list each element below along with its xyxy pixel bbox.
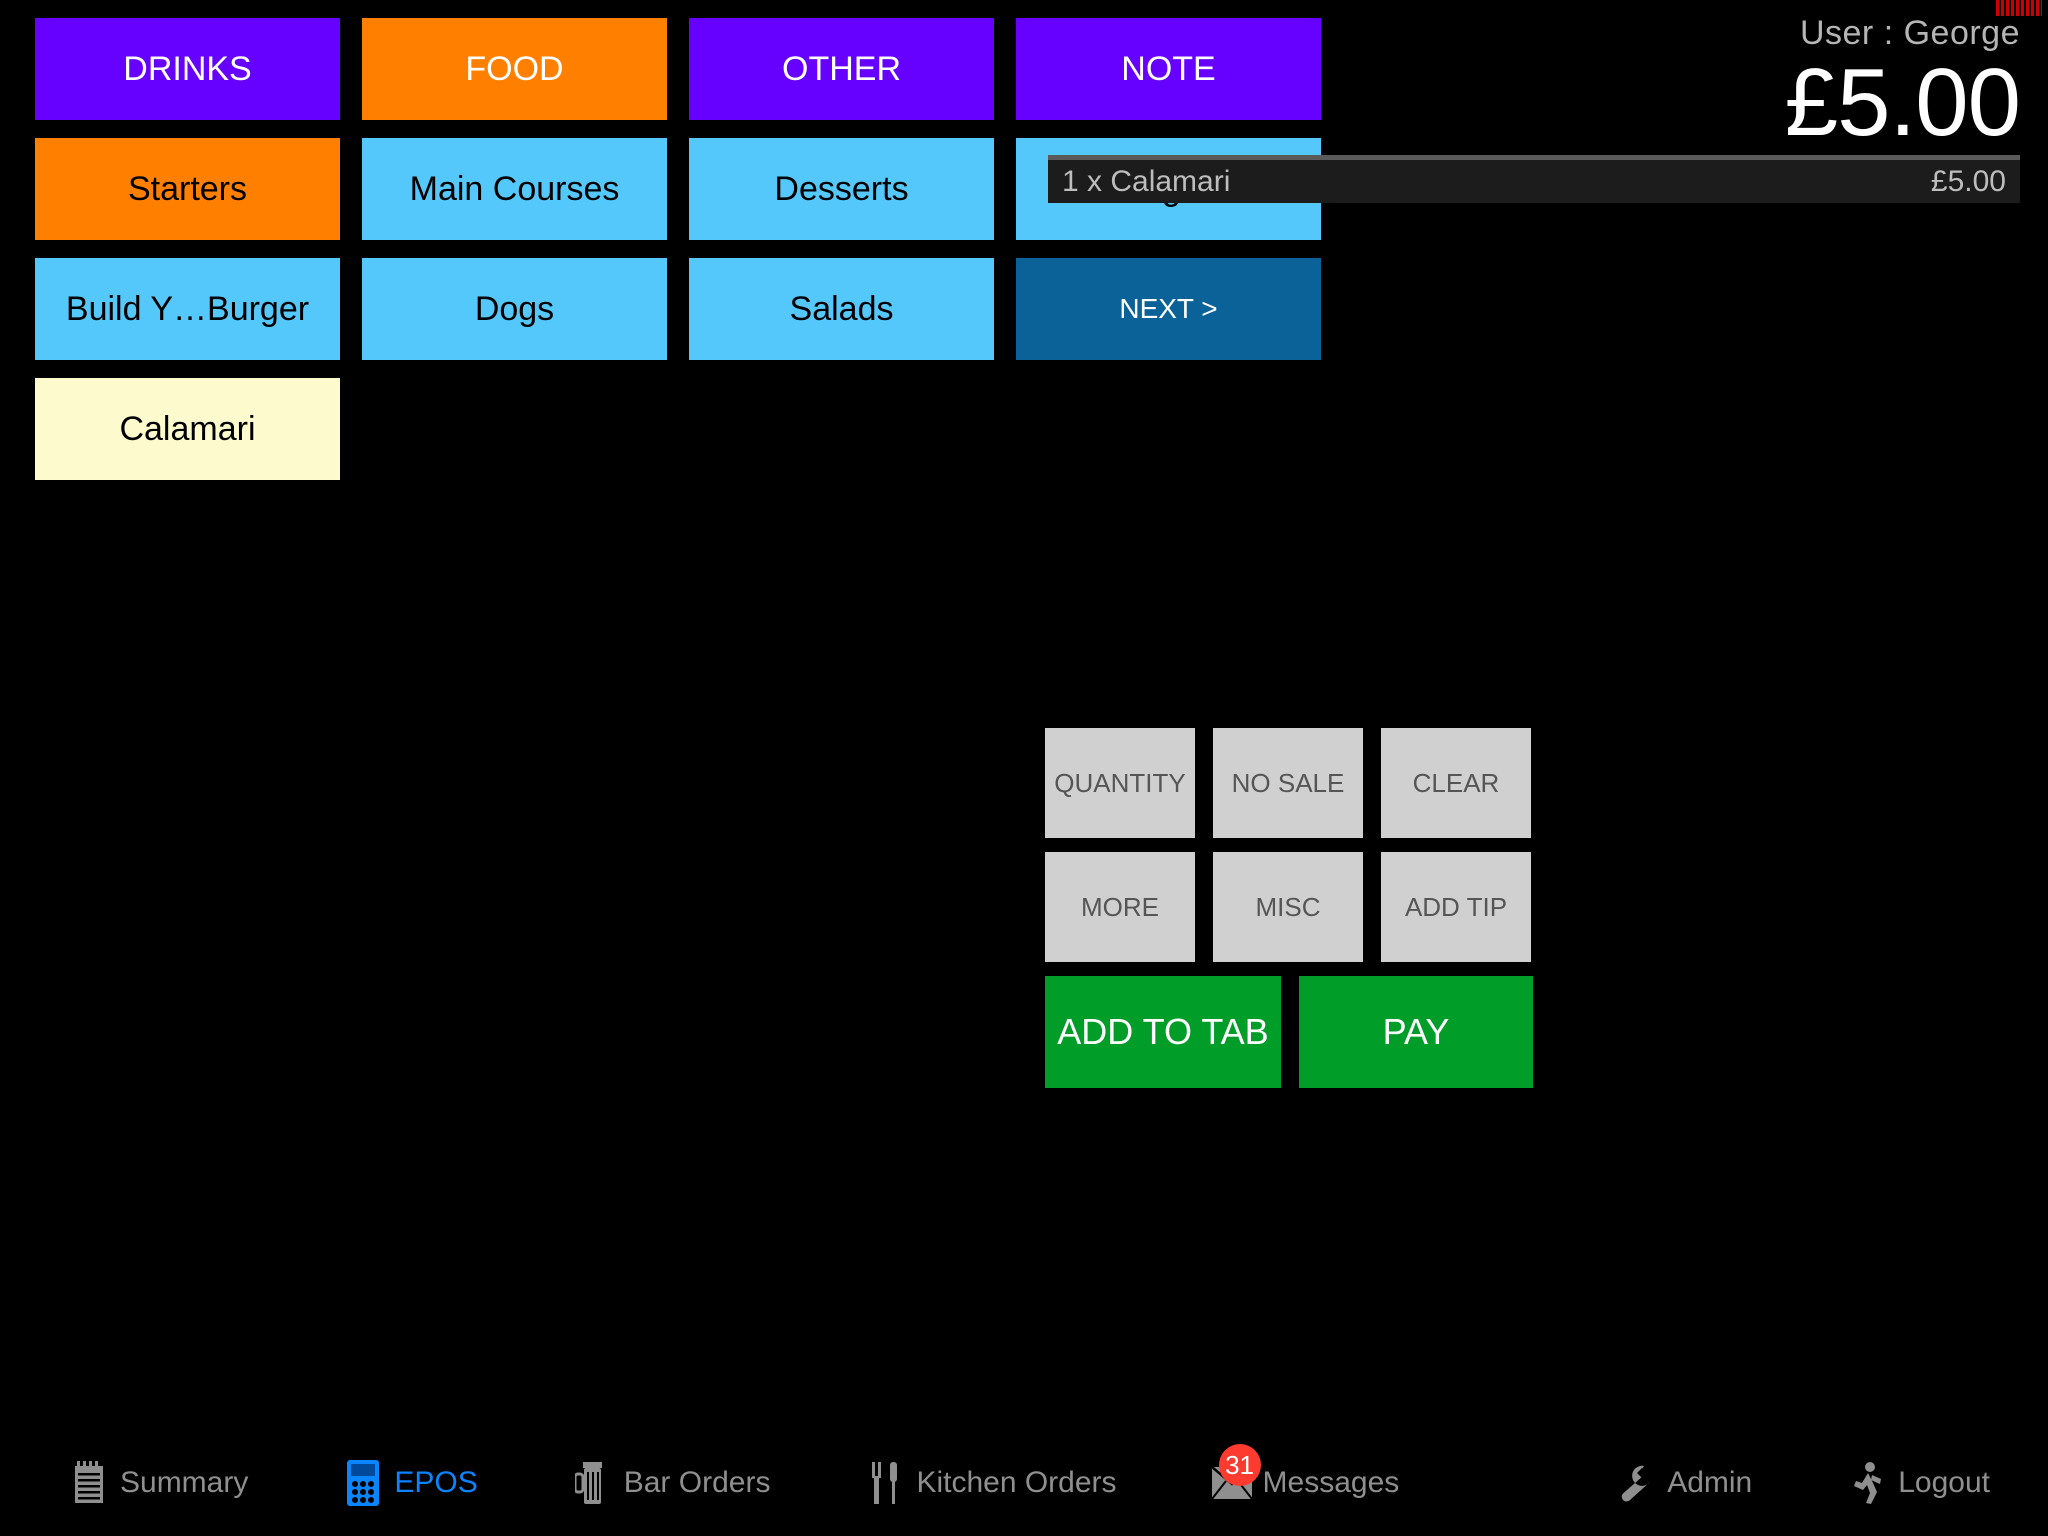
misc-button[interactable]: MISC: [1213, 852, 1363, 962]
grid-button-label: Build Y…Burger: [66, 292, 309, 326]
grid-button-label: Main Courses: [410, 172, 620, 206]
tab-bar-right-group: AdminLogout: [1597, 1430, 2008, 1536]
action-button-label: CLEAR: [1413, 768, 1500, 799]
quantity-button[interactable]: QUANTITY: [1045, 728, 1195, 838]
wrench-icon: [1615, 1458, 1657, 1508]
clear-button[interactable]: CLEAR: [1381, 728, 1531, 838]
action-button-label: MISC: [1256, 892, 1321, 923]
category-food[interactable]: FOOD: [362, 18, 667, 120]
order-line-description: 1 x Calamari: [1062, 165, 1931, 199]
no-sale-button[interactable]: NO SALE: [1213, 728, 1363, 838]
tab-label: Admin: [1667, 1466, 1752, 1500]
tab-bar-left-group: SummaryEPOSBar OrdersKitchen OrdersMessa…: [50, 1430, 1417, 1536]
running-person-icon: [1846, 1458, 1888, 1508]
grid-button-label: Dogs: [475, 292, 554, 326]
cutlery-icon: [864, 1458, 906, 1508]
tab-epos[interactable]: EPOS: [324, 1430, 495, 1536]
subcategory-dogs[interactable]: Dogs: [362, 258, 667, 360]
order-line-item[interactable]: 1 x Calamari£5.00: [1048, 155, 2020, 203]
subcategory-desserts[interactable]: Desserts: [689, 138, 994, 240]
grid-button-label: Calamari: [119, 412, 255, 446]
tab-label: Logout: [1898, 1466, 1990, 1500]
action-button-label: NO SALE: [1232, 768, 1345, 799]
add-to-tab-button[interactable]: ADD TO TAB: [1045, 976, 1281, 1088]
tab-label: Bar Orders: [624, 1466, 771, 1500]
action-button-label: QUANTITY: [1054, 768, 1185, 799]
tab-admin[interactable]: Admin: [1597, 1430, 1770, 1536]
grid-button-label: DRINKS: [123, 52, 251, 86]
order-line-amount: £5.00: [1931, 165, 2006, 199]
order-panel: User : George £5.00 1 x Calamari£5.00: [1040, 0, 2048, 1400]
grid-button-label: OTHER: [782, 52, 901, 86]
action-button-label: ADD TIP: [1405, 892, 1507, 923]
notification-badge: 31: [1219, 1444, 1261, 1486]
subcategory-salads[interactable]: Salads: [689, 258, 994, 360]
bottom-tab-bar: SummaryEPOSBar OrdersKitchen OrdersMessa…: [0, 1430, 2048, 1536]
action-keypad: ADD TIPMISCMORECLEARNO SALEQUANTITY ADD …: [1045, 728, 2045, 1098]
subcategory-main-courses[interactable]: Main Courses: [362, 138, 667, 240]
category-drinks[interactable]: DRINKS: [35, 18, 340, 120]
product-grid: DRINKSFOODOTHERNOTEStartersMain CoursesD…: [35, 18, 1035, 638]
pay-button[interactable]: PAY: [1299, 976, 1533, 1088]
tab-bar-orders[interactable]: Bar Orders: [554, 1430, 789, 1536]
grid-button-label: Starters: [128, 172, 247, 206]
more-button[interactable]: MORE: [1045, 852, 1195, 962]
grid-button-label: FOOD: [465, 52, 563, 86]
category-other[interactable]: OTHER: [689, 18, 994, 120]
order-total: £5.00: [1785, 48, 2020, 158]
tab-label: Summary: [120, 1466, 248, 1500]
add-tip-button[interactable]: ADD TIP: [1381, 852, 1531, 962]
tab-summary[interactable]: Summary: [50, 1430, 266, 1536]
subcategory-starters[interactable]: Starters: [35, 138, 340, 240]
notepad-icon: [68, 1458, 110, 1508]
beer-mug-icon: [572, 1458, 614, 1508]
action-button-label: MORE: [1081, 892, 1159, 923]
calculator-icon: [342, 1458, 384, 1508]
tab-label: EPOS: [394, 1466, 477, 1500]
tab-messages[interactable]: Messages31: [1193, 1430, 1418, 1536]
tab-logout[interactable]: Logout: [1828, 1430, 2008, 1536]
grid-button-label: Salads: [790, 292, 894, 326]
product-calamari[interactable]: Calamari: [35, 378, 340, 480]
tab-kitchen-orders[interactable]: Kitchen Orders: [846, 1430, 1134, 1536]
subcategory-build-your-burger[interactable]: Build Y…Burger: [35, 258, 340, 360]
grid-button-label: Desserts: [774, 172, 908, 206]
order-line-list: 1 x Calamari£5.00: [1048, 155, 2020, 203]
tab-label: Kitchen Orders: [916, 1466, 1116, 1500]
epos-screen: DRINKSFOODOTHERNOTEStartersMain CoursesD…: [0, 0, 2048, 1536]
tab-label: Messages: [1263, 1466, 1400, 1500]
